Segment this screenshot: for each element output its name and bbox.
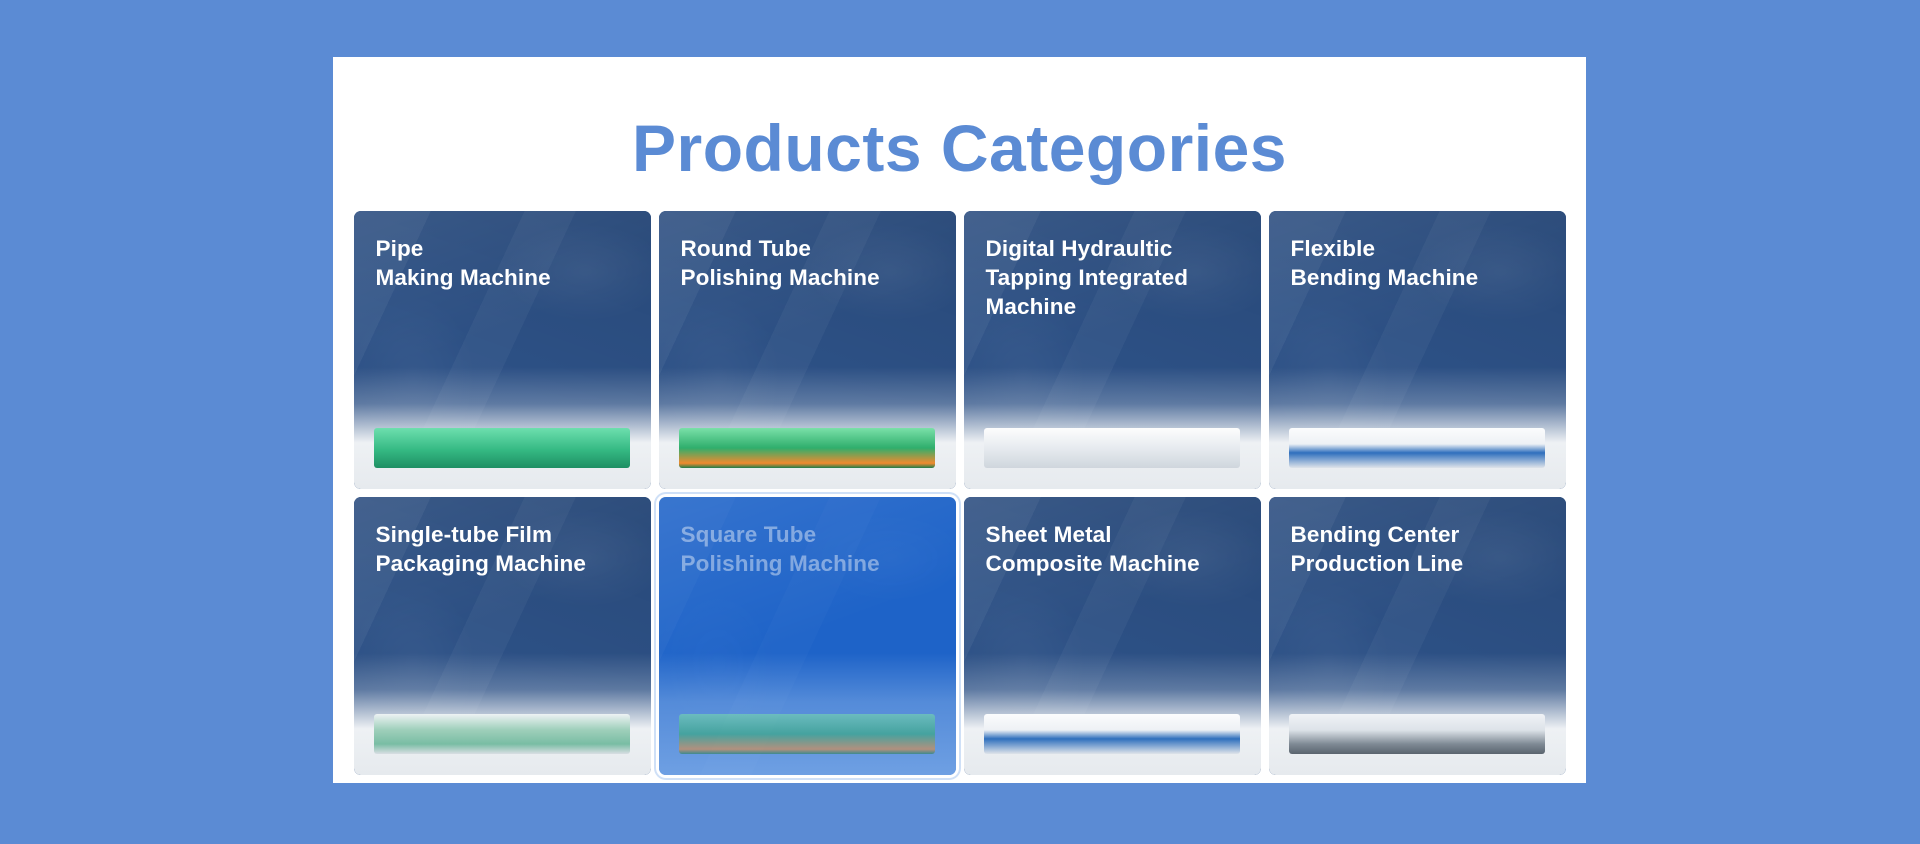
machine-illustration: [1289, 714, 1544, 754]
category-card-bending-center-production-line[interactable]: Bending Center Production Line: [1269, 497, 1566, 775]
card-product-photo: [1269, 653, 1566, 775]
machine-illustration: [374, 714, 629, 754]
category-card-flexible-bending-machine[interactable]: Flexible Bending Machine: [1269, 211, 1566, 489]
category-card-title: Round Tube Polishing Machine: [659, 211, 956, 293]
card-product-photo: [354, 653, 651, 775]
machine-illustration: [374, 428, 629, 468]
category-card-single-tube-film-packaging-machine[interactable]: Single-tube Film Packaging Machine: [354, 497, 651, 775]
category-card-title: Single-tube Film Packaging Machine: [354, 497, 651, 579]
card-product-photo: [659, 653, 956, 775]
category-card-title: Flexible Bending Machine: [1269, 211, 1566, 293]
card-product-photo: [1269, 367, 1566, 489]
products-categories-panel: Products Categories Pipe Making MachineR…: [333, 57, 1586, 783]
category-card-pipe-making-machine[interactable]: Pipe Making Machine: [354, 211, 651, 489]
machine-illustration: [984, 714, 1239, 754]
category-card-sheet-metal-composite-machine[interactable]: Sheet Metal Composite Machine: [964, 497, 1261, 775]
category-card-title: Sheet Metal Composite Machine: [964, 497, 1261, 579]
machine-illustration: [1289, 428, 1544, 468]
category-card-square-tube-polishing-machine[interactable]: Square Tube Polishing Machine: [659, 497, 956, 775]
category-card-grid: Pipe Making MachineRound Tube Polishing …: [333, 211, 1586, 775]
card-product-photo: [964, 367, 1261, 489]
category-card-title: Bending Center Production Line: [1269, 497, 1566, 579]
category-card-title: Square Tube Polishing Machine: [659, 497, 956, 579]
card-product-photo: [354, 367, 651, 489]
machine-illustration: [679, 714, 934, 754]
page-title: Products Categories: [333, 57, 1586, 191]
category-card-digital-hydraultic-tapping-integrated-machine[interactable]: Digital Hydraultic Tapping Integrated Ma…: [964, 211, 1261, 489]
category-card-round-tube-polishing-machine[interactable]: Round Tube Polishing Machine: [659, 211, 956, 489]
card-product-photo: [659, 367, 956, 489]
machine-illustration: [984, 428, 1239, 468]
category-card-title: Pipe Making Machine: [354, 211, 651, 293]
card-product-photo: [964, 653, 1261, 775]
category-card-title: Digital Hydraultic Tapping Integrated Ma…: [964, 211, 1261, 321]
machine-illustration: [679, 428, 934, 468]
